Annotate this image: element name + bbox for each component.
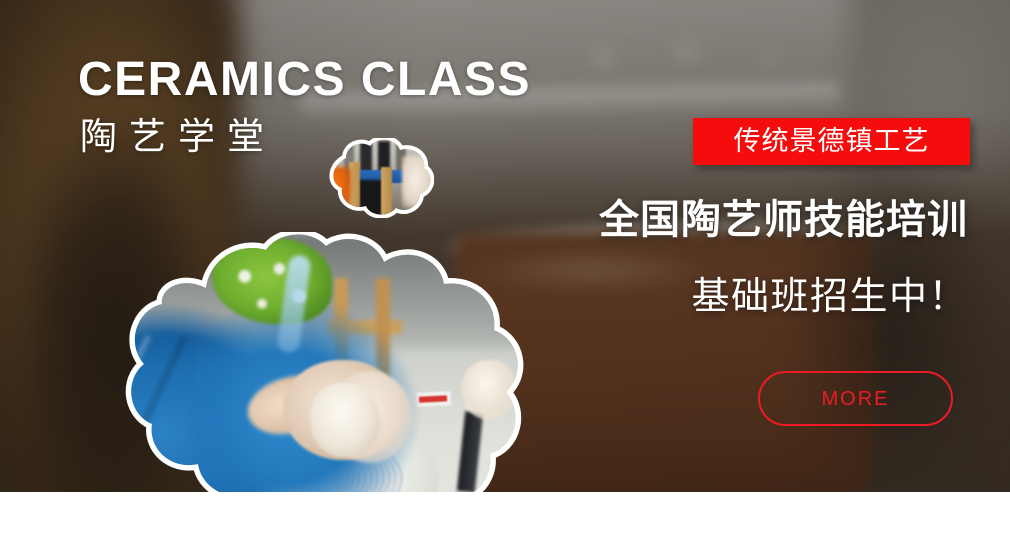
page-title-chinese: 陶艺学堂: [80, 116, 276, 159]
more-button[interactable]: MORE: [758, 371, 953, 426]
status-badge-label: 传统景德镇工艺: [734, 128, 930, 155]
subheadline-text: 基础班招生中！: [548, 278, 968, 316]
headline-text: 全国陶艺师技能培训: [548, 200, 968, 240]
cloud-photo-large: [78, 232, 524, 522]
cloud-photo-small-svg: [316, 138, 434, 218]
more-button-label: MORE: [822, 389, 890, 409]
cloud-photo-large-svg: [78, 232, 524, 522]
page-title-english: CERAMICS CLASS: [78, 56, 531, 104]
ceramics-class-banner: CERAMICS CLASS 陶艺学堂: [0, 0, 1010, 538]
status-badge: 传统景德镇工艺: [693, 118, 970, 165]
cloud-photo-large-scene: [78, 232, 524, 522]
bottom-white-strip: [0, 492, 1010, 538]
cloud-photo-small: [316, 138, 434, 218]
